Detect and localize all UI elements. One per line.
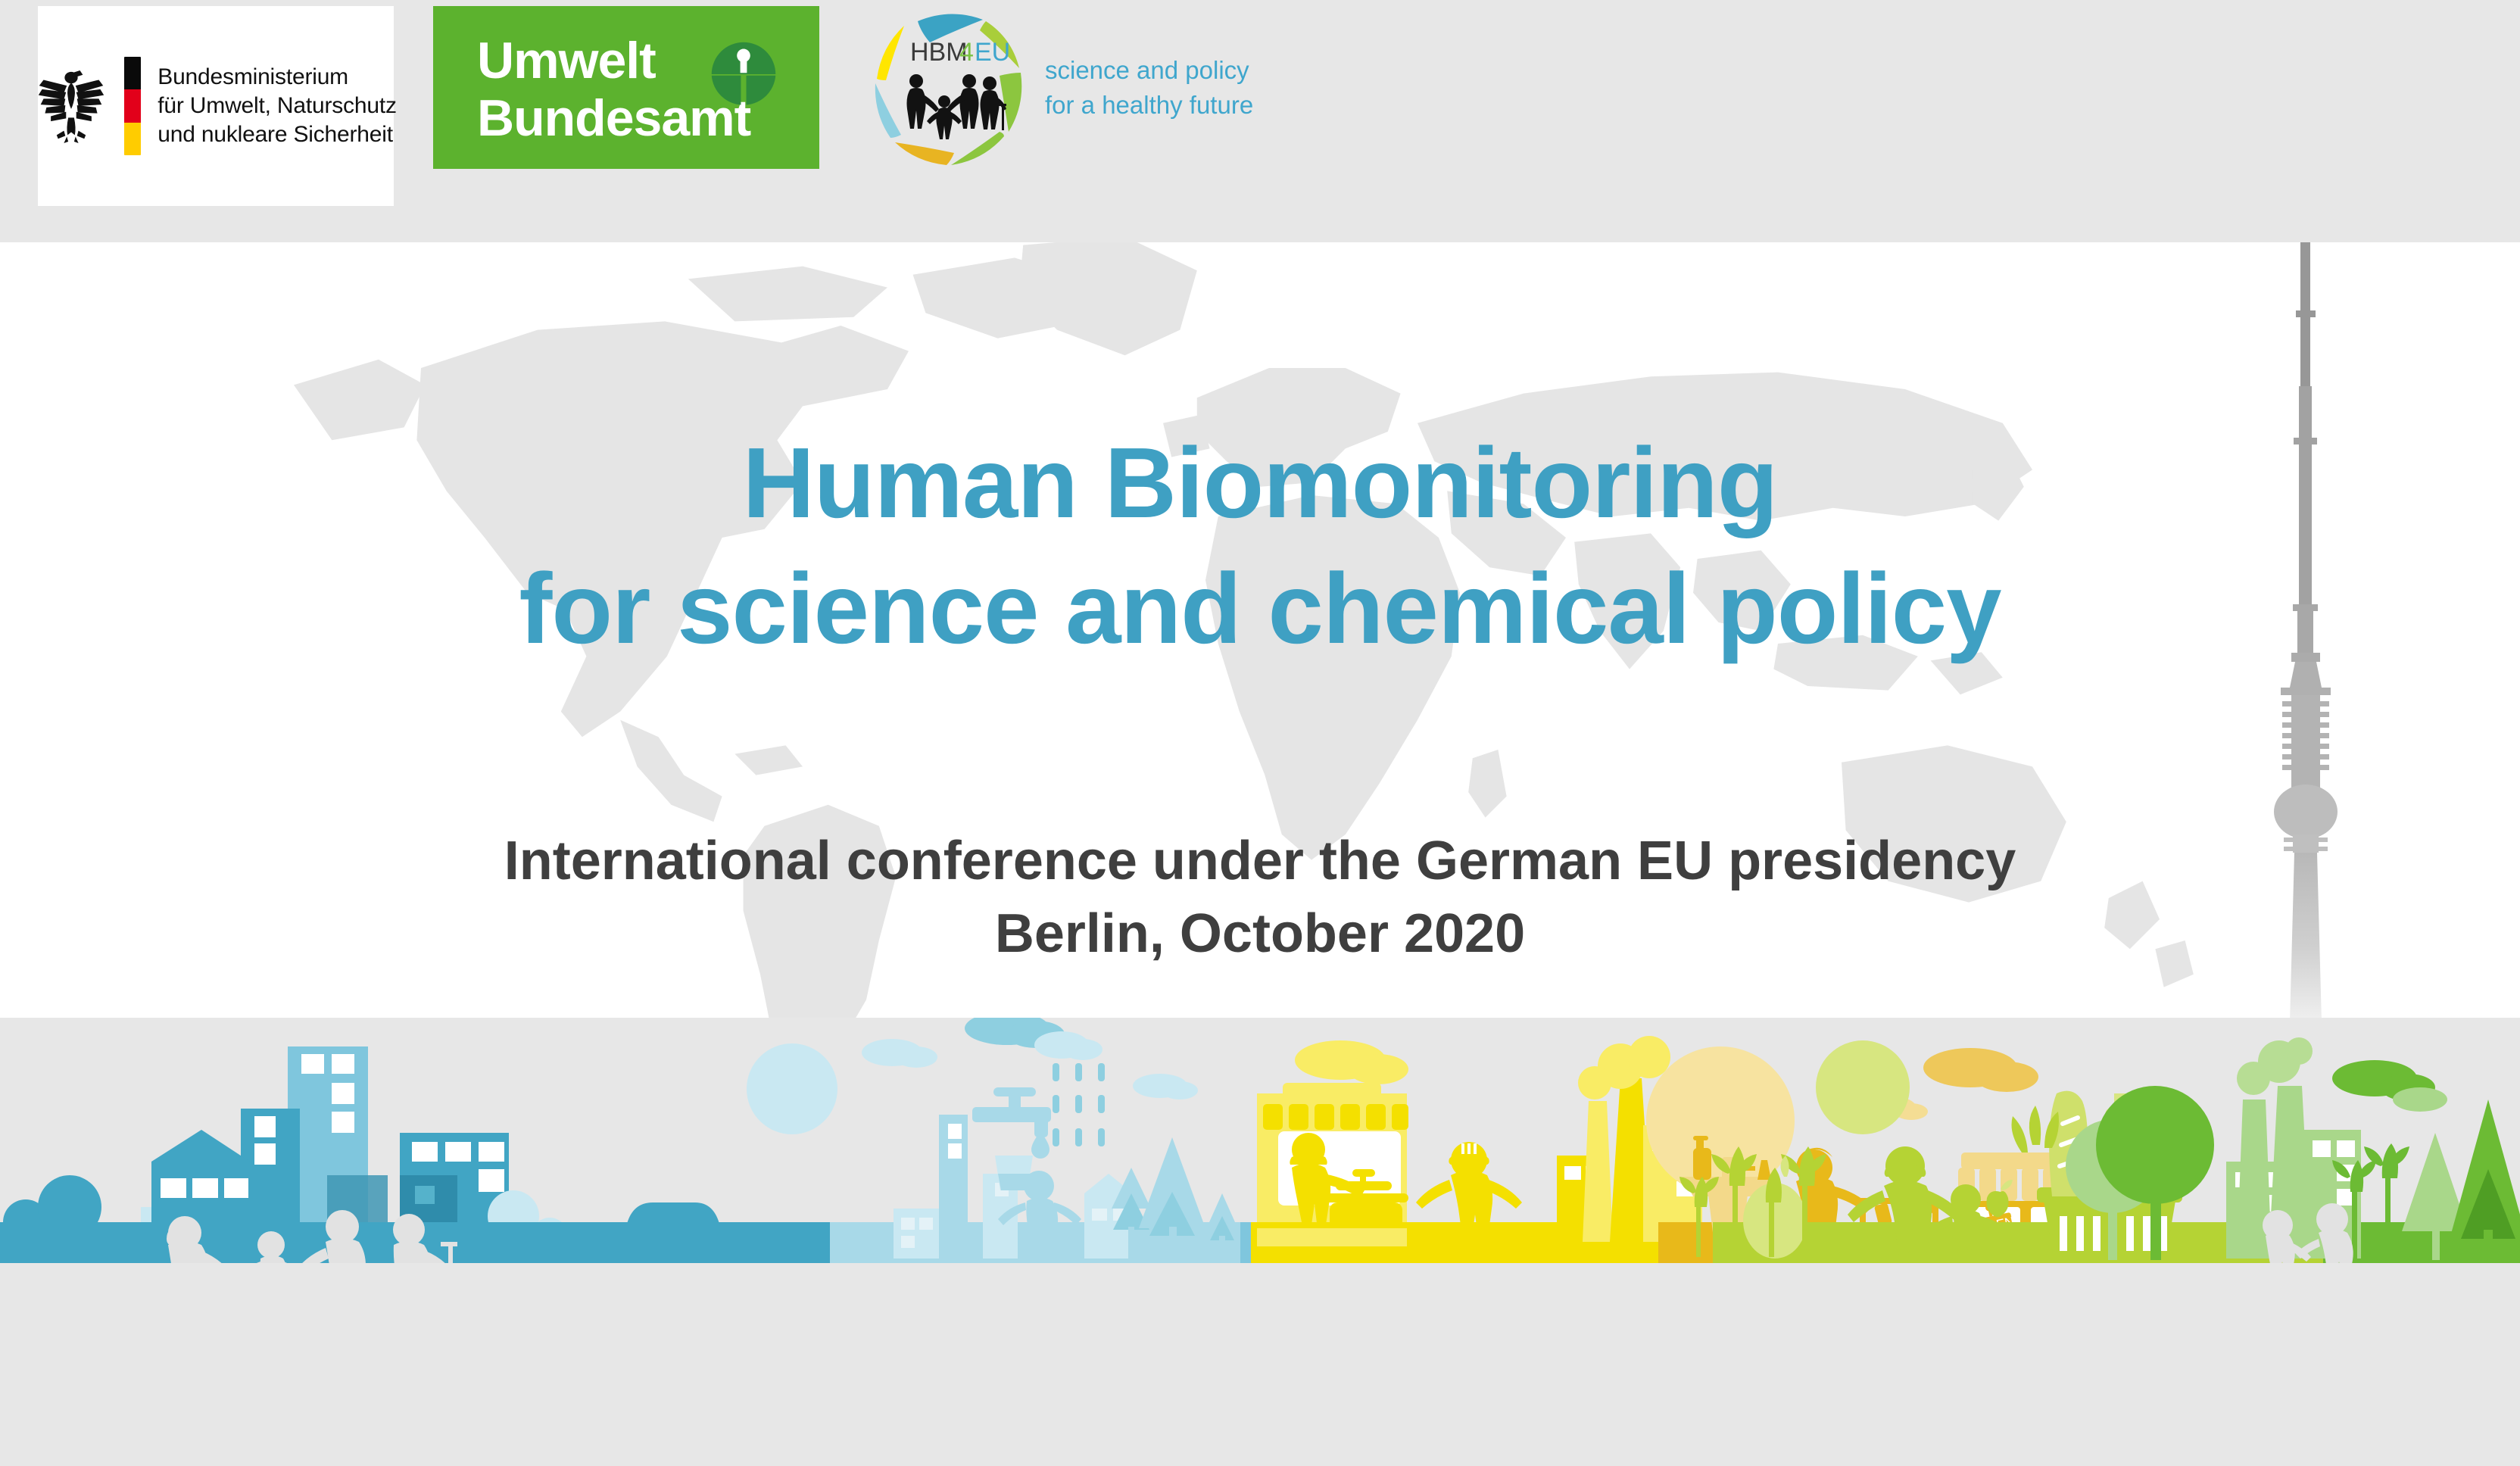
umweltbundesamt-logo: Umwelt Bundesamt — [433, 6, 819, 169]
hbm4eu-ring-icon — [871, 9, 1030, 168]
hbm4eu-tagline: science and policy for a healthy future — [1045, 53, 1253, 122]
hbm4eu-logo: HBM 4 EU — [859, 6, 1268, 169]
page-subtitle: International conference under the Germa… — [0, 825, 2520, 971]
bundesministerium-logo: Bundesministerium für Umwelt, Naturschut… — [38, 6, 394, 206]
bmu-line-1: Bundesministerium — [157, 63, 396, 92]
logo-strip: Bundesministerium für Umwelt, Naturschut… — [38, 6, 1268, 206]
footer-band — [0, 1263, 2520, 1466]
page-title: Human Biomonitoring for science and chem… — [0, 420, 2520, 672]
title-line-2: for science and chemical policy — [0, 546, 2520, 672]
subtitle-line-1: International conference under the Germa… — [0, 825, 2520, 898]
panel-city — [0, 1043, 837, 1263]
slide-root: Bundesministerium für Umwelt, Naturschut… — [0, 0, 2520, 1466]
uba-person-circle-icon — [710, 41, 777, 108]
header-band: Bundesministerium für Umwelt, Naturschut… — [0, 0, 2520, 242]
panel-industry — [1240, 1036, 1702, 1263]
bmu-line-3: und nukleare Sicherheit — [157, 120, 396, 149]
hbm4eu-tagline-line-1: science and policy — [1045, 53, 1253, 88]
subtitle-line-2: Berlin, October 2020 — [0, 898, 2520, 971]
german-flag-bar — [124, 57, 141, 155]
bmu-logo-text: Bundesministerium für Umwelt, Naturschut… — [157, 63, 396, 148]
hbm4eu-tagline-line-2: for a healthy future — [1045, 88, 1253, 123]
title-line-1: Human Biomonitoring — [0, 420, 2520, 546]
bmu-line-2: für Umwelt, Naturschutz — [157, 92, 396, 120]
panel-water — [831, 1018, 1255, 1263]
federal-eagle-icon — [35, 68, 108, 144]
environment-health-panorama: OPEN — [0, 1018, 2520, 1263]
